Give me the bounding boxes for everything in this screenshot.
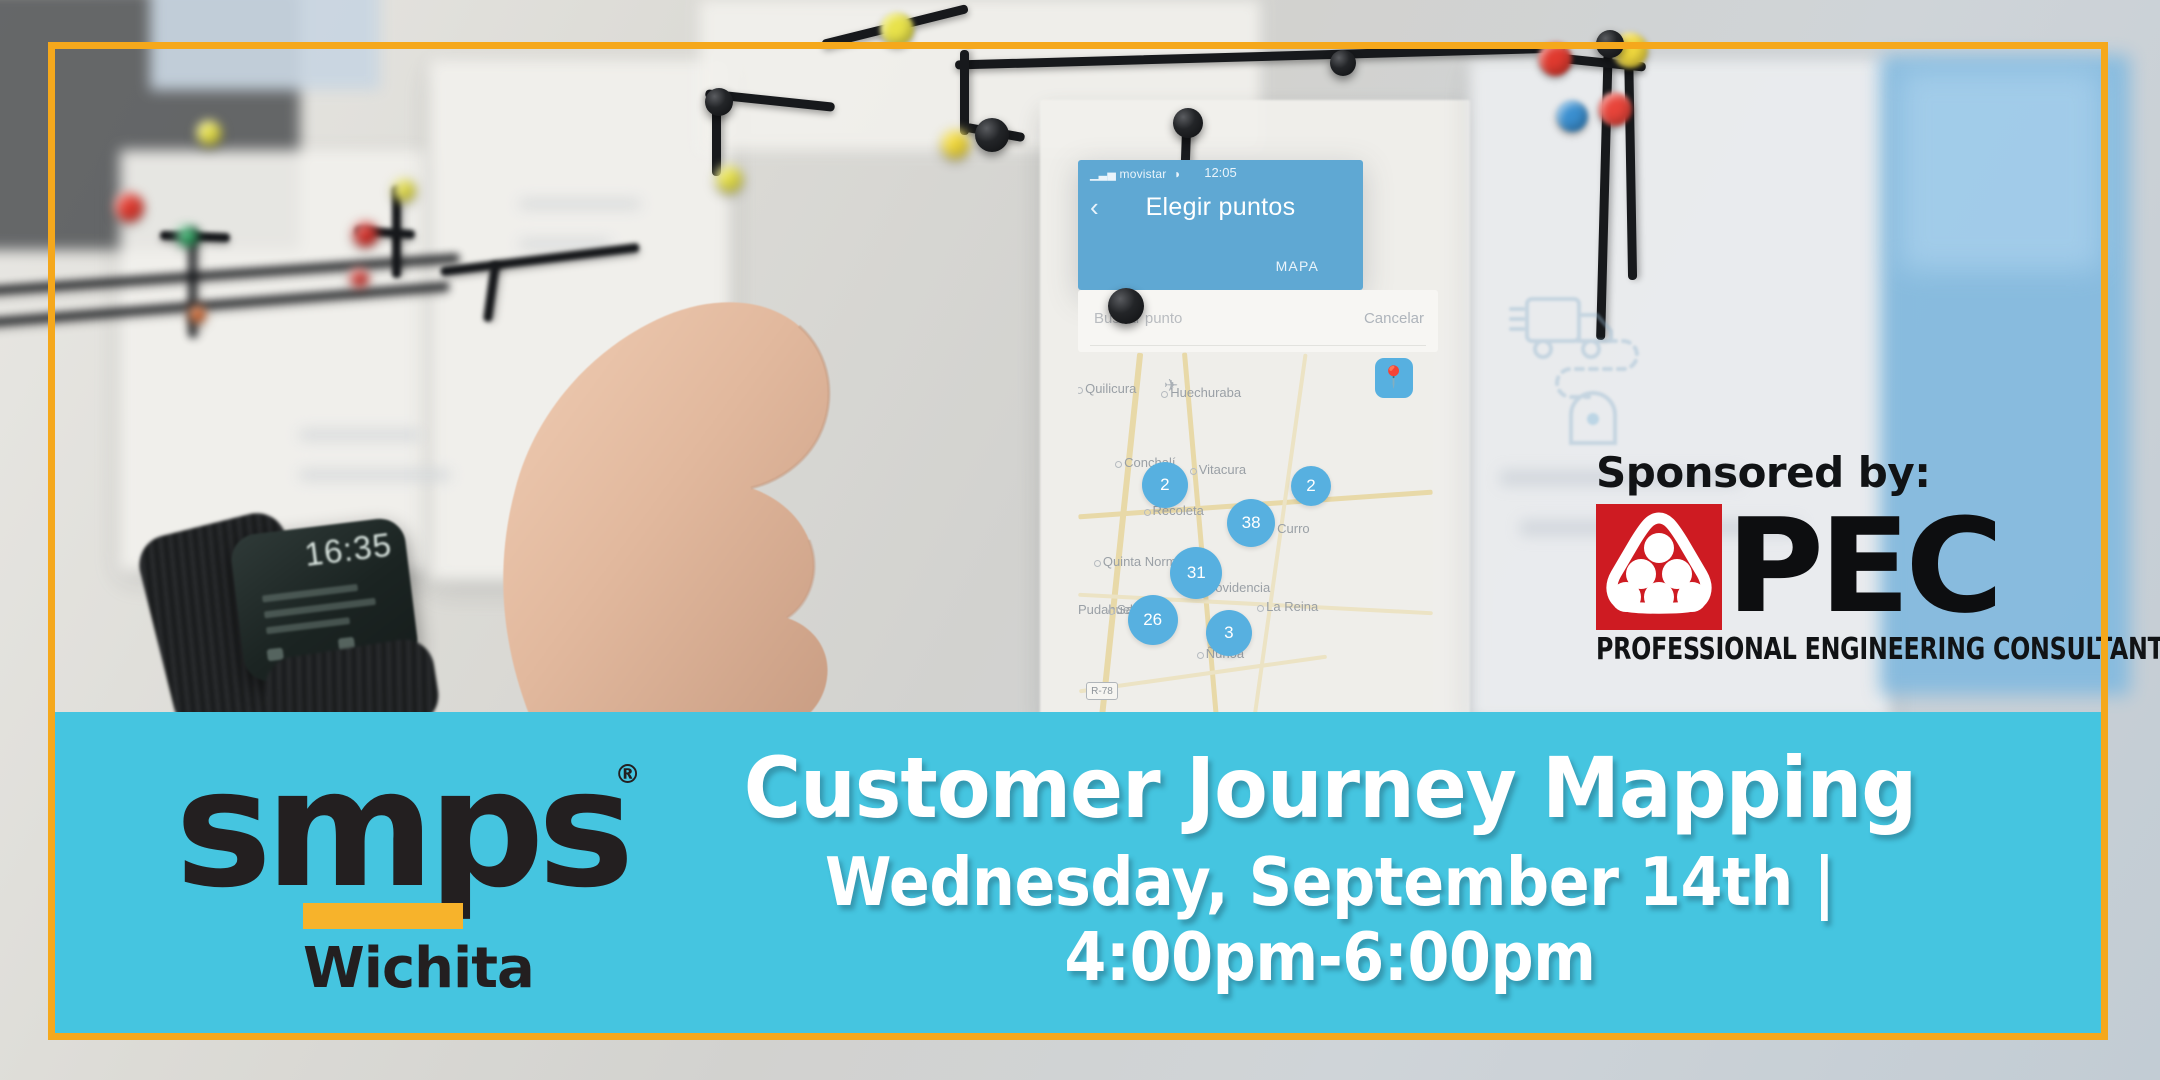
wireframe-phone-header: ▁▃▅ movistar ◗ 12:05 ‹ Elegir puntos MAP… — [1078, 160, 1363, 290]
pushpin — [1598, 92, 1632, 126]
pushpin-black — [1330, 50, 1356, 76]
smps-logo: smps ® Wichita — [175, 748, 605, 1003]
map-road — [1182, 352, 1219, 719]
smps-wordmark-text: smps — [175, 735, 628, 924]
pushpin — [392, 178, 416, 202]
map-cluster-marker[interactable]: 26 — [1128, 595, 1178, 645]
pushpin — [715, 165, 743, 193]
smartwatch: 16:35 — [175, 512, 425, 722]
pec-logo-mark — [1596, 504, 1722, 630]
photo-string — [960, 50, 969, 135]
pushpin-black — [1596, 30, 1624, 58]
map-place-dot — [1257, 605, 1264, 612]
pushpin — [176, 225, 198, 247]
map-place-dot — [1115, 461, 1122, 468]
photo-blue-panel — [1900, 70, 2100, 270]
watch-text-line — [264, 598, 376, 619]
map-place-dot — [1197, 652, 1204, 659]
watch-text-line — [262, 584, 358, 603]
pushpin — [940, 129, 970, 159]
map-area: ✈ R-78 📍 QuilicuraHuechurabaConchalíVita… — [1078, 352, 1433, 720]
pushpin — [1556, 100, 1588, 132]
map-label: Quilicura — [1085, 381, 1136, 396]
wireframe-cancel-link[interactable]: Cancelar — [1364, 310, 1424, 327]
truck-route-sketch — [1495, 285, 1695, 475]
pushpin-black — [1173, 108, 1203, 138]
watch-time: 16:35 — [302, 526, 394, 574]
pushpin — [114, 192, 144, 222]
map-cluster-marker[interactable]: 2 — [1142, 462, 1188, 508]
pushpin — [196, 120, 222, 146]
pushpin — [880, 12, 914, 46]
watch-text-line — [266, 617, 350, 634]
map-road — [1099, 353, 1143, 720]
map-place-dot — [1094, 560, 1101, 567]
event-date-time: Wednesday, September 14th | 4:00pm-6:00p… — [687, 845, 1974, 995]
sponsor-block: Sponsored by: PEC PROFESSIONAL ENGINEERI… — [1596, 452, 2096, 667]
map-pin-icon: 📍 — [1381, 366, 1407, 390]
map-place-dot — [1144, 509, 1151, 516]
hand — [395, 150, 975, 770]
wireframe-screen-title: Elegir puntos — [1078, 193, 1363, 222]
map-place-dot — [1078, 387, 1083, 394]
event-banner: smps ® Wichita Customer Journey Mapping … — [55, 712, 2101, 1035]
pushpin-black — [975, 118, 1009, 152]
map-label: La Reina — [1266, 599, 1318, 614]
map-cluster-marker[interactable]: 31 — [1170, 547, 1222, 599]
map-label: Huechuraba — [1170, 385, 1241, 400]
photo-sheet — [150, 0, 380, 90]
map-cluster-marker[interactable]: 2 — [1291, 466, 1331, 506]
map-cluster-marker[interactable]: 38 — [1227, 499, 1275, 547]
pushpin — [1538, 42, 1572, 76]
pushpin-black — [1108, 288, 1144, 324]
map-label: Vitacura — [1199, 462, 1246, 477]
event-title: Customer Journey Mapping — [665, 744, 1995, 833]
pec-wordmark: PEC — [1726, 504, 1998, 629]
route-shield: R-78 — [1086, 682, 1118, 700]
pushpin — [349, 268, 369, 288]
map-place-dot — [1161, 391, 1168, 398]
pushpin — [352, 221, 378, 247]
smps-wordmark: smps ® — [175, 748, 628, 911]
map-pin-button[interactable]: 📍 — [1375, 358, 1413, 398]
pec-tagline: PROFESSIONAL ENGINEERING CONSULTANTS, P.… — [1596, 632, 2036, 667]
hand-silhouette — [395, 150, 975, 770]
wireframe-divider — [1090, 345, 1426, 346]
smps-accent-bar — [303, 903, 463, 929]
sponsored-by-label: Sponsored by: — [1596, 452, 2096, 494]
wireframe-tab-mapa[interactable]: MAPA — [1276, 258, 1319, 274]
event-title-block: Customer Journey Mapping Wednesday, Sept… — [615, 744, 2045, 995]
pushpin — [188, 305, 206, 323]
photo-sheet — [120, 150, 430, 570]
event-poster: ▁▃▅ movistar ◗ 12:05 ‹ Elegir puntos MAP… — [0, 0, 2160, 1080]
truck-route-icon — [1495, 285, 1695, 475]
pushpin-black — [705, 88, 733, 116]
pec-triangle-icon — [1596, 504, 1722, 630]
pec-logo: PEC — [1596, 504, 2096, 630]
wireframe-clock: 12:05 — [1078, 165, 1363, 180]
map-cluster-marker[interactable]: 3 — [1206, 610, 1252, 656]
smps-chapter-name: Wichita — [303, 941, 534, 997]
